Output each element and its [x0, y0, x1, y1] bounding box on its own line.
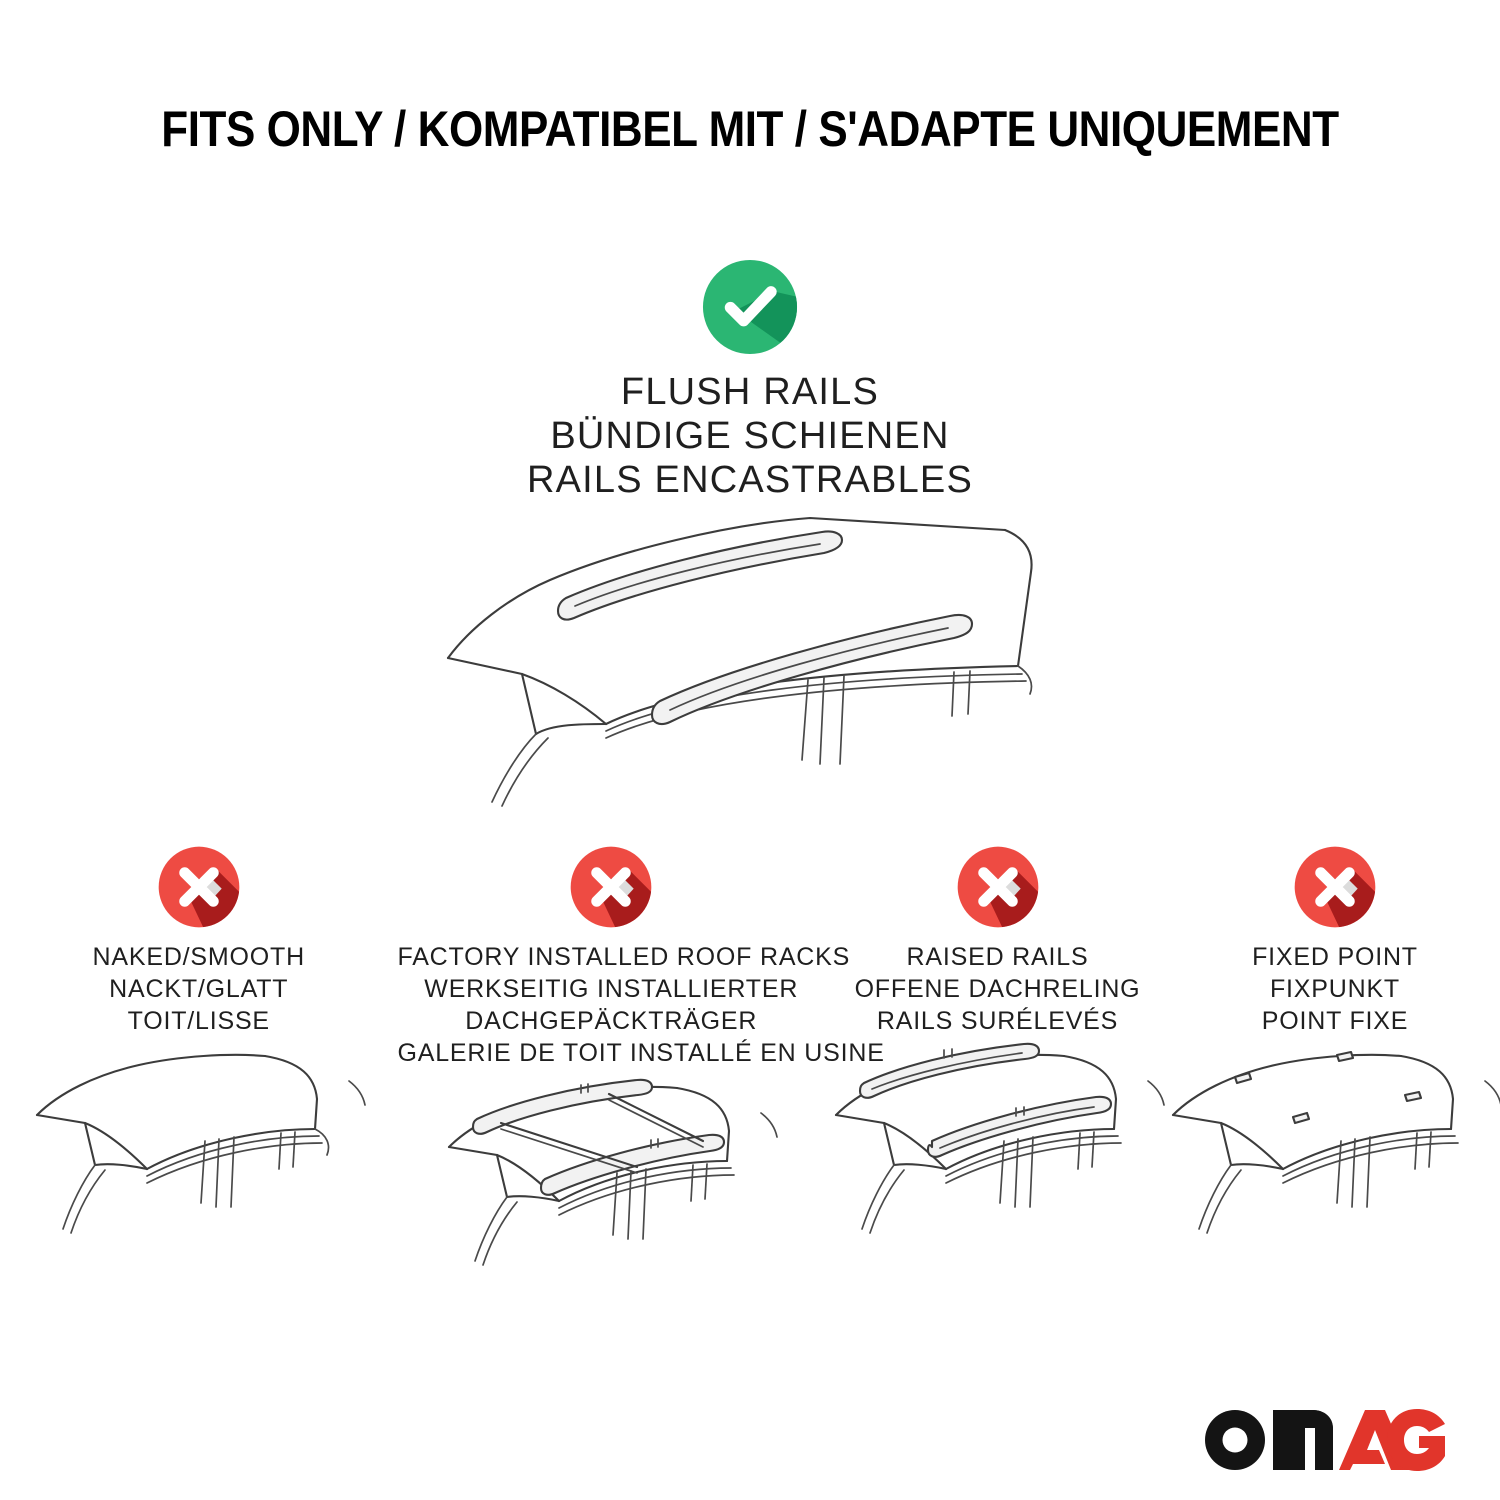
compatibility-infographic: FITS ONLY / KOMPATIBEL MIT / S'ADAPTE UN…: [0, 0, 1500, 1500]
illustration-wrap: [398, 1069, 826, 1319]
label-en: RAISED RAILS: [825, 941, 1170, 973]
compatible-section: FLUSH RAILS BÜNDIGE SCHIENEN RAILS ENCAS…: [0, 258, 1500, 502]
illustration-wrap: [825, 1037, 1170, 1287]
cross-circle-icon: [956, 845, 1040, 929]
label-en: FACTORY INSTALLED ROOF RACKS: [398, 941, 826, 973]
check-circle-icon: [701, 258, 799, 356]
label-en: NAKED/SMOOTH: [0, 941, 398, 973]
incompatible-labels: FIXED POINT FIXPUNKT POINT FIXE: [1170, 941, 1500, 1037]
car-roof-raised-rails-illustration: [828, 1037, 1168, 1277]
label-de: NACKT/GLATT: [0, 973, 398, 1005]
compatible-labels: FLUSH RAILS BÜNDIGE SCHIENEN RAILS ENCAS…: [0, 370, 1500, 502]
illustration-wrap: [0, 1037, 398, 1287]
label-fr: GALERIE DE TOIT INSTALLÉ EN USINE: [398, 1037, 826, 1069]
label-fr: POINT FIXE: [1170, 1005, 1500, 1037]
label-de: FIXPUNKT: [1170, 973, 1500, 1005]
label-de: OFFENE DACHRELING: [825, 973, 1170, 1005]
label-de-2: DACHGEPÄCKTRÄGER: [398, 1005, 826, 1037]
car-roof-naked-smooth-illustration: [29, 1037, 369, 1277]
compatible-label-de: BÜNDIGE SCHIENEN: [0, 414, 1500, 458]
label-fr: RAILS SURÉLEVÉS: [825, 1005, 1170, 1037]
logo-letter-o: [1205, 1410, 1265, 1470]
incompatible-labels: RAISED RAILS OFFENE DACHRELING RAILS SUR…: [825, 941, 1170, 1037]
logo-letter-c: [1387, 1409, 1445, 1471]
car-roof-factory-roof-racks-illustration: [441, 1069, 781, 1309]
car-roof-flush-rails-illustration: [430, 488, 1070, 808]
cross-circle-icon: [569, 845, 653, 929]
compatible-label-en: FLUSH RAILS: [0, 370, 1500, 414]
page-title: FITS ONLY / KOMPATIBEL MIT / S'ADAPTE UN…: [90, 100, 1410, 158]
illustration-wrap: [1170, 1037, 1500, 1287]
label-fr: TOIT/LISSE: [0, 1005, 398, 1037]
label-de-1: WERKSEITIG INSTALLIERTER: [398, 973, 826, 1005]
cross-circle-icon: [157, 845, 241, 929]
incompatible-section: NAKED/SMOOTH NACKT/GLATT TOIT/LISSE: [0, 845, 1500, 1319]
cross-circle-icon: [1293, 845, 1377, 929]
logo-letter-m: [1273, 1410, 1333, 1470]
label-en: FIXED POINT: [1170, 941, 1500, 973]
car-roof-fixed-point-illustration: [1165, 1037, 1500, 1277]
omac-logo: [1203, 1402, 1445, 1478]
incompatible-item-naked-smooth: NAKED/SMOOTH NACKT/GLATT TOIT/LISSE: [0, 845, 398, 1287]
incompatible-item-raised-rails: RAISED RAILS OFFENE DACHRELING RAILS SUR…: [825, 845, 1170, 1287]
incompatible-labels: FACTORY INSTALLED ROOF RACKS WERKSEITIG …: [398, 941, 826, 1069]
incompatible-item-factory-roof-racks: FACTORY INSTALLED ROOF RACKS WERKSEITIG …: [398, 845, 826, 1319]
incompatible-item-fixed-point: FIXED POINT FIXPUNKT POINT FIXE: [1170, 845, 1500, 1287]
incompatible-labels: NAKED/SMOOTH NACKT/GLATT TOIT/LISSE: [0, 941, 398, 1037]
